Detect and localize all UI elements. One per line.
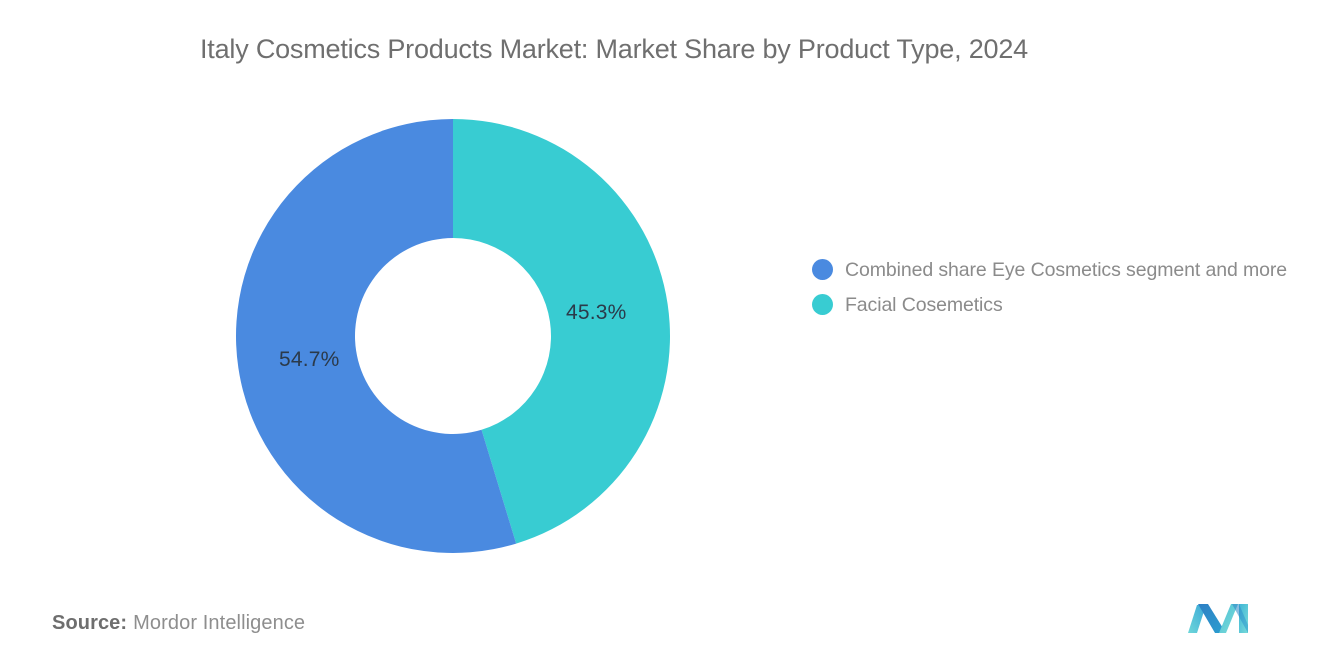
chart-card: Italy Cosmetics Products Market: Market …: [0, 0, 1320, 665]
chart-legend: Combined share Eye Cosmetics segment and…: [812, 256, 1312, 326]
legend-item-label: Facial Cosemetics: [845, 291, 1003, 319]
donut-chart-svg: [235, 118, 671, 554]
donut-slice-value-blue: 54.7%: [279, 348, 340, 372]
donut-chart: 54.7% 45.3%: [235, 118, 671, 554]
mi-logo-icon: [1186, 599, 1256, 635]
mordor-intelligence-logo: [1186, 599, 1256, 635]
source-line: Source:Mordor Intelligence: [52, 612, 305, 635]
source-value: Mordor Intelligence: [133, 612, 305, 634]
source-label: Source:: [52, 612, 127, 634]
legend-color-swatch-icon: [812, 294, 833, 315]
donut-slice-value-teal: 45.3%: [566, 301, 627, 325]
legend-item-facial-cosemetics[interactable]: Facial Cosemetics: [812, 291, 1312, 319]
chart-title: Italy Cosmetics Products Market: Market …: [200, 30, 1200, 68]
legend-color-swatch-icon: [812, 259, 833, 280]
legend-item-label: Combined share Eye Cosmetics segment and…: [845, 256, 1287, 284]
legend-item-combined-share-eye-cosmetics[interactable]: Combined share Eye Cosmetics segment and…: [812, 256, 1312, 284]
